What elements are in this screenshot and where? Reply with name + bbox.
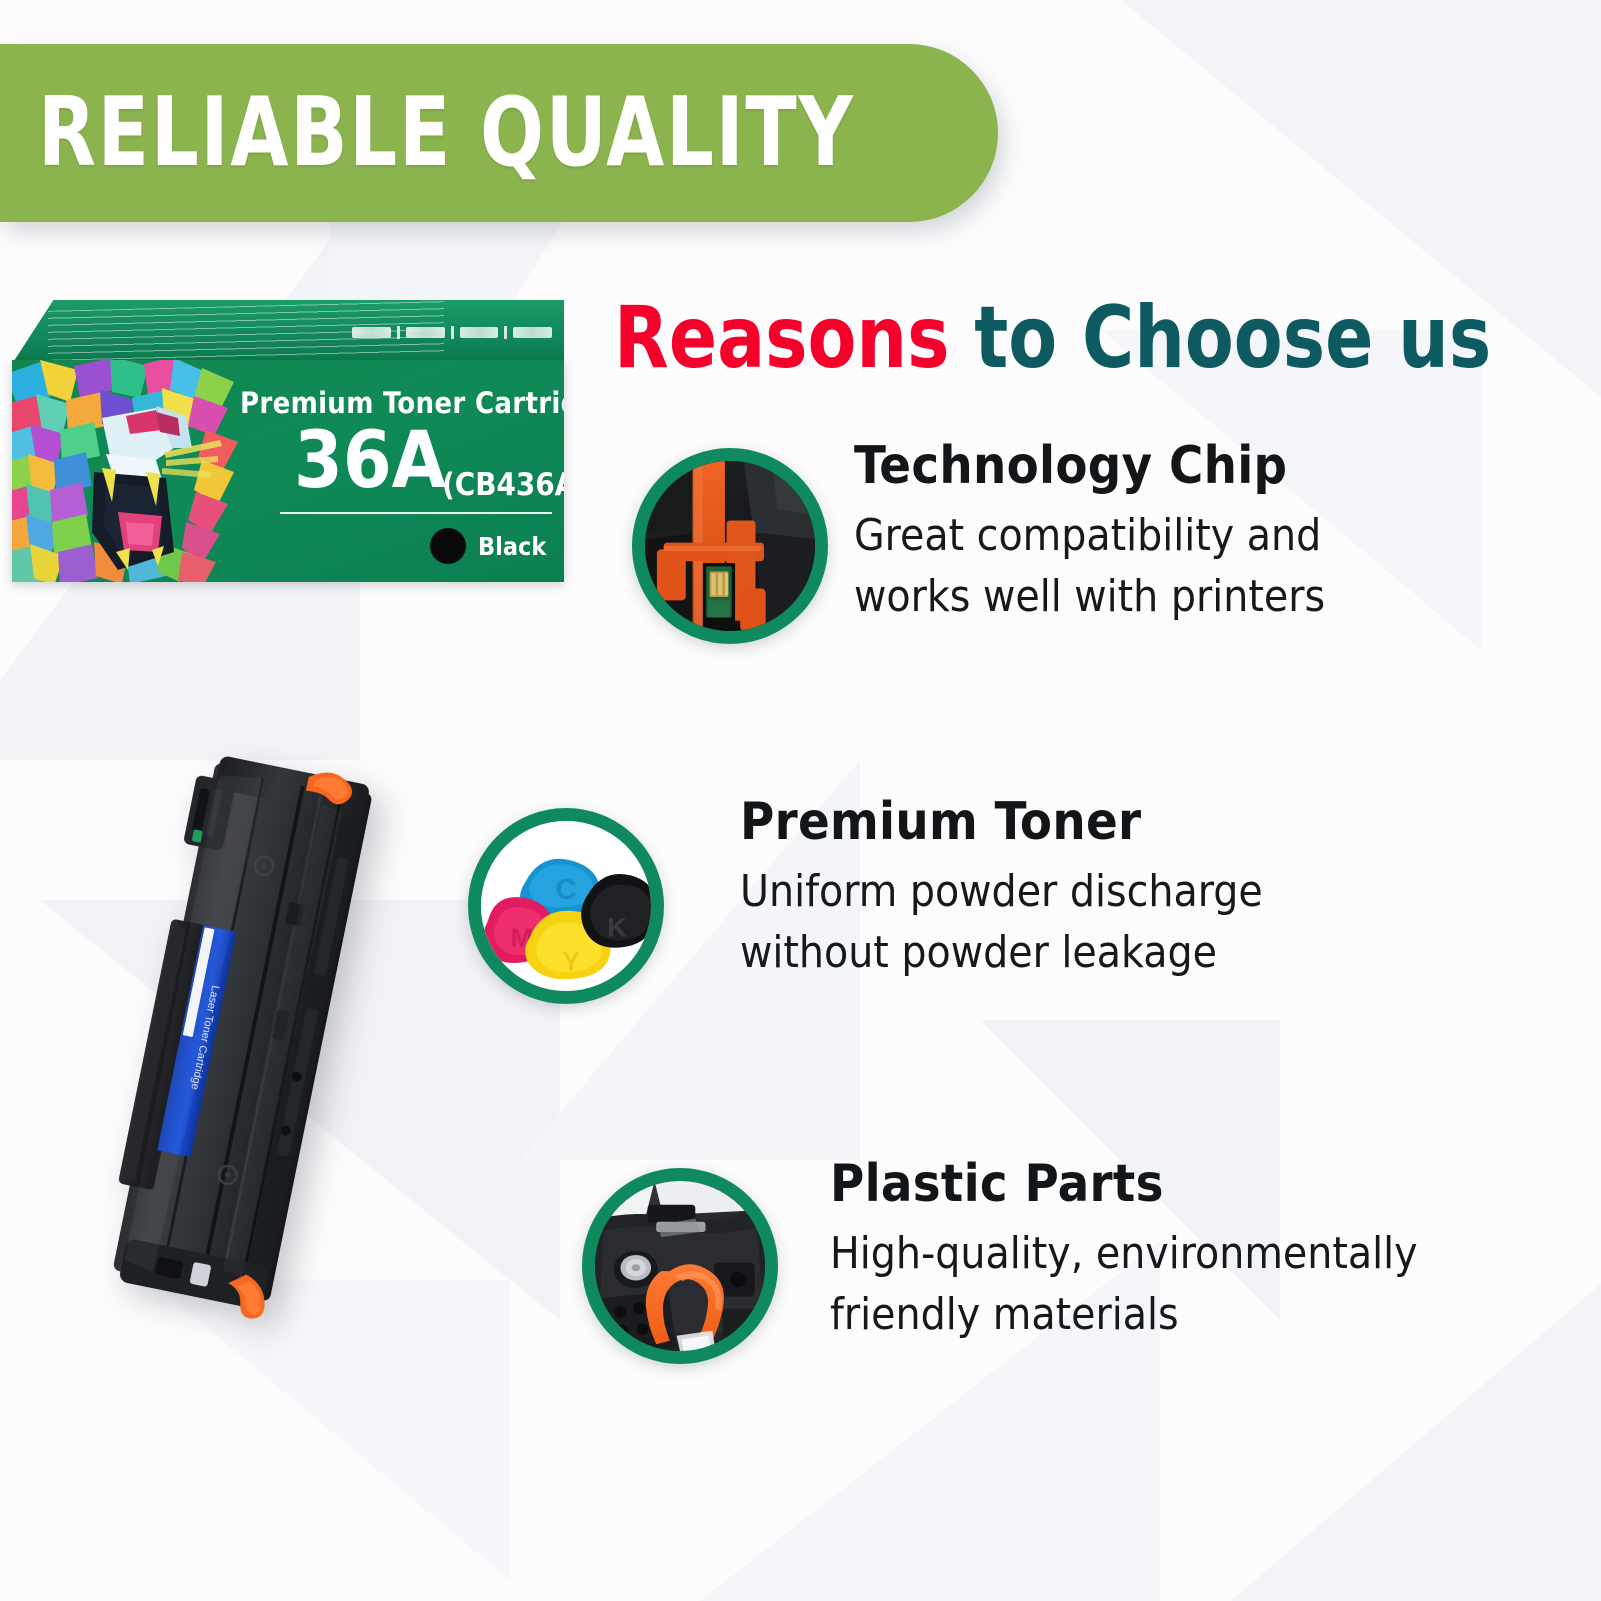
feature-title: Technology Chip (854, 436, 1325, 496)
lion-head-graphic (12, 360, 274, 582)
feature-description: Uniform powder discharge without powder … (740, 862, 1263, 983)
feature-description: Great compatibility and works well with … (854, 506, 1325, 627)
feature-line: works well with printers (854, 567, 1325, 628)
feature-description: High-quality, environmentally friendly m… (830, 1224, 1418, 1345)
powder-letter-k: K (607, 912, 627, 943)
infographic-canvas: RELIABLE QUALITY Reasons to Choose us (0, 0, 1601, 1601)
box-model: 36A (294, 422, 446, 500)
box-model-code: (CB436A) (442, 467, 564, 503)
box-front-face: Premium Toner Cartridge 36A (CB436A) Bla… (12, 360, 564, 582)
box-divider (280, 512, 552, 514)
toner-cartridge-illustration: Laser Toner Cartridge (90, 731, 396, 1329)
plastic-parts-closeup-icon (582, 1168, 778, 1364)
cartridge-photo: Laser Toner Cartridge (105, 735, 445, 1355)
box-lid (12, 300, 564, 364)
feature-title: Plastic Parts (830, 1154, 1418, 1214)
cmyk-toner-powder-icon: C M Y K (468, 808, 664, 1004)
feature-text: Technology Chip Great compatibility and … (854, 436, 1325, 627)
chip-contact-closeup-icon (632, 448, 828, 644)
powder-letter-y: Y (562, 946, 580, 977)
toner-box: Premium Toner Cartridge 36A (CB436A) Bla… (12, 300, 564, 582)
box-title: Premium Toner Cartridge (240, 386, 564, 420)
box-color-row: Black x1 (430, 528, 564, 564)
feature-line: Uniform powder discharge (740, 862, 1263, 923)
box-color-label: Black (478, 532, 546, 561)
feature-line: High-quality, environmentally (830, 1224, 1418, 1285)
box-handling-icons (352, 324, 552, 340)
powder-letter-c: C (556, 874, 577, 906)
feature-title: Premium Toner (740, 792, 1263, 852)
feature-text: Plastic Parts High-quality, environmenta… (830, 1154, 1418, 1345)
feature-text: Premium Toner Uniform powder discharge w… (740, 792, 1263, 983)
feature-line: Great compatibility and (854, 506, 1325, 567)
page-title: Reasons to Choose us (614, 288, 1491, 388)
banner-label: RELIABLE QUALITY (38, 78, 855, 188)
page-title-rest: to Choose us (949, 288, 1491, 388)
feature-line: friendly materials (830, 1285, 1418, 1346)
product-box-image: Premium Toner Cartridge 36A (CB436A) Bla… (12, 300, 572, 730)
feature-line: without powder leakage (740, 923, 1263, 984)
page-title-highlight: Reasons (614, 288, 949, 388)
reliable-quality-banner: RELIABLE QUALITY (0, 44, 998, 222)
black-color-dot (430, 528, 466, 564)
box-reflection: Black x1 36A (12, 586, 564, 736)
